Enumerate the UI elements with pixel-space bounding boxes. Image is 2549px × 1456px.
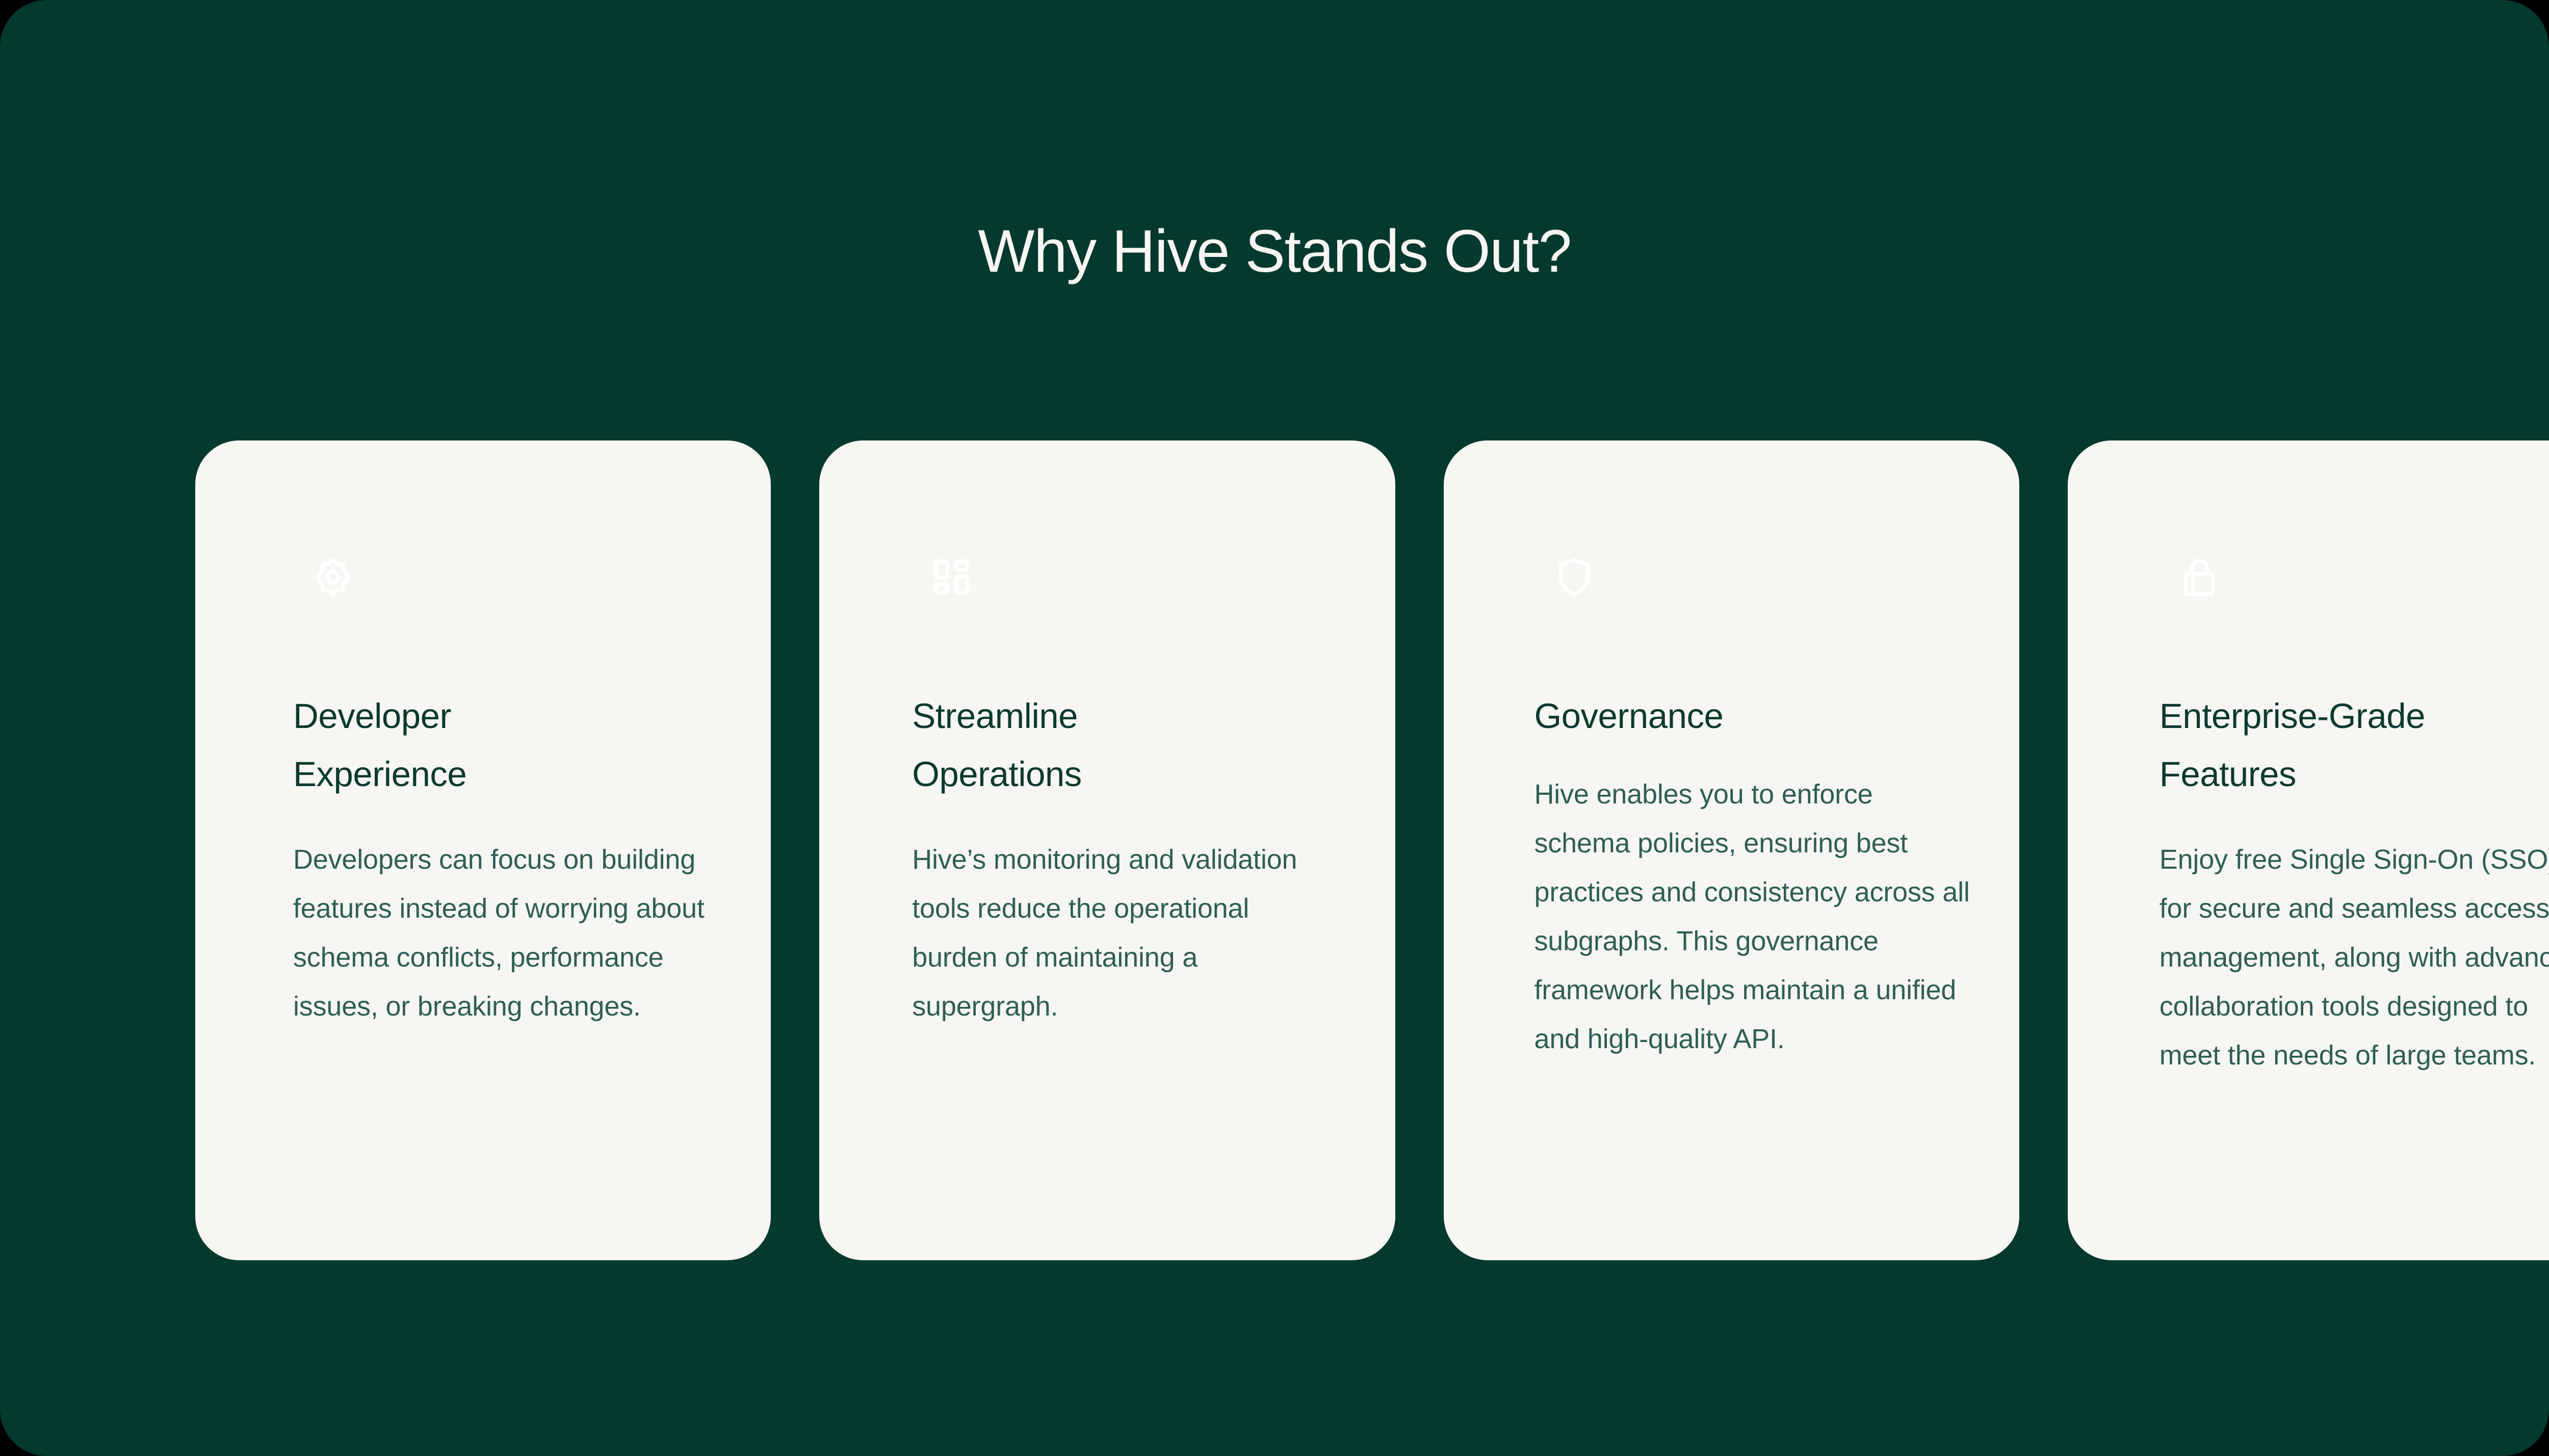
feature-card[interactable]: Developer Experience Developers can focu…: [195, 440, 771, 1260]
card-title: Enterprise-Grade Features: [2160, 687, 2549, 803]
card-body: Hive’s monitoring and validation tools r…: [912, 835, 1339, 1031]
card-body: Developers can focus on building feature…: [293, 835, 715, 1031]
card-title: Governance: [1534, 687, 1971, 745]
feature-card[interactable]: Governance Hive enables you to enforce s…: [1444, 440, 2019, 1260]
card-body: Enjoy free Single Sign-On (SSO) for secu…: [2160, 835, 2549, 1080]
card-body: Hive enables you to enforce schema polic…: [1534, 770, 1971, 1063]
page-title: Why Hive Stands Out?: [0, 219, 2549, 285]
shield-icon: [1534, 537, 1614, 617]
lock-icon: [2160, 537, 2239, 617]
card-title: Developer Experience: [293, 687, 715, 803]
card-title: Streamline Operations: [912, 687, 1339, 803]
feature-card[interactable]: Enterprise-Grade Features Enjoy free Sin…: [2068, 440, 2549, 1260]
feature-card-grid: Developer Experience Developers can focu…: [195, 440, 2549, 1260]
feature-card[interactable]: Streamline Operations Hive’s monitoring …: [819, 440, 1395, 1260]
dashboard-grid-icon: [912, 537, 992, 617]
gear-icon: [293, 537, 373, 617]
page-root: Why Hive Stands Out? Developer Experienc…: [0, 0, 2549, 1456]
